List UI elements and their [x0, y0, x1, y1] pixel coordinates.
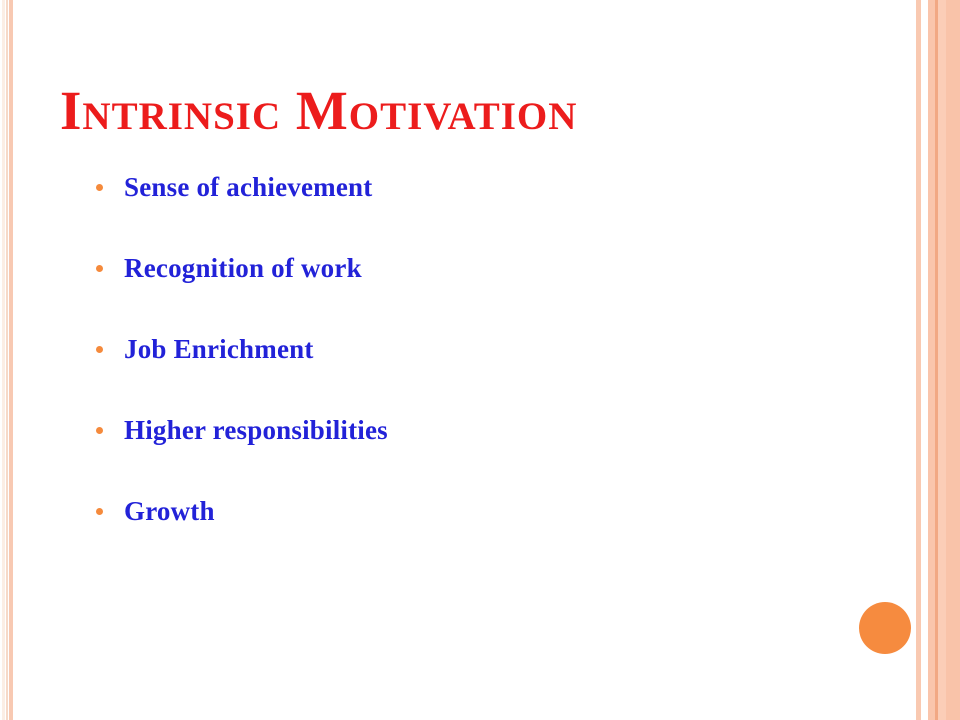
- right-border-band-b: [938, 0, 946, 720]
- left-border-stripe-peach-thin: [6, 0, 8, 720]
- list-item: Sense of achievement: [96, 172, 816, 253]
- list-item: Job Enrichment: [96, 334, 816, 415]
- right-border-stripe-thin: [916, 0, 921, 720]
- bullet-dot-icon: [96, 265, 103, 272]
- list-item: Growth: [96, 496, 816, 577]
- list-item: Higher responsibilities: [96, 415, 816, 496]
- left-border-stripe-peach: [9, 0, 13, 720]
- bullet-item-label: Higher responsibilities: [124, 415, 388, 446]
- bullet-item-label: Job Enrichment: [124, 334, 314, 365]
- bullet-item-label: Sense of achievement: [124, 172, 372, 203]
- slide-title: Intrinsic Motivation: [60, 82, 577, 140]
- bullet-list: Sense of achievement Recognition of work…: [96, 172, 816, 577]
- bullet-item-label: Recognition of work: [124, 253, 362, 284]
- accent-circle-decoration: [859, 602, 911, 654]
- right-border-band-a: [928, 0, 935, 720]
- bullet-item-label: Growth: [124, 496, 215, 527]
- bullet-dot-icon: [96, 427, 103, 434]
- left-border-stripe-cream: [2, 0, 5, 720]
- right-border-band-c: [946, 0, 960, 720]
- bullet-dot-icon: [96, 184, 103, 191]
- slide-canvas: Intrinsic Motivation Sense of achievemen…: [0, 0, 960, 720]
- list-item: Recognition of work: [96, 253, 816, 334]
- bullet-dot-icon: [96, 346, 103, 353]
- bullet-dot-icon: [96, 508, 103, 515]
